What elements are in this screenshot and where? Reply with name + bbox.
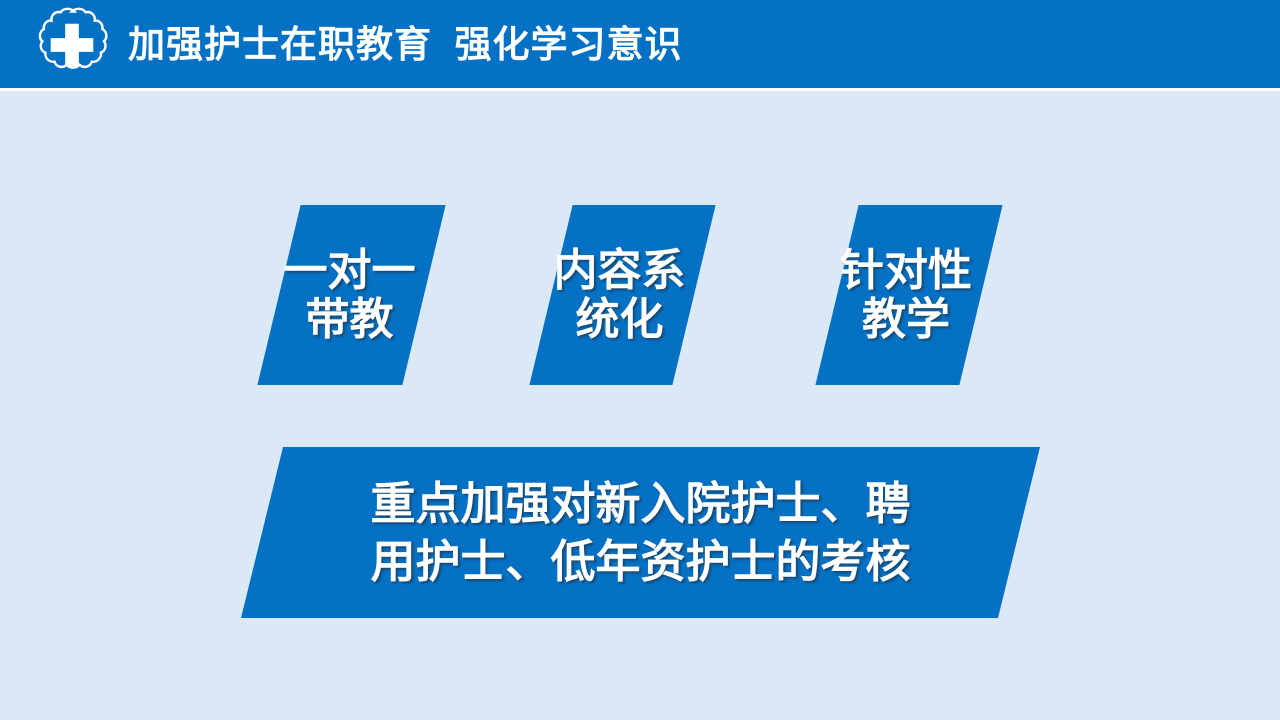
content-area: 一对一 带教 内容系 统化 针对性 教学 重点加强对新入院护士、聘 用护士、低年… [0, 0, 1280, 720]
slide-root: 加强护士在职教育 强化学习意识 一对一 带教 内容系 统化 针对性 教学 重点加… [0, 0, 1280, 720]
cross-glyph [51, 24, 94, 67]
header-bar: 加强护士在职教育 强化学习意识 [0, 0, 1280, 88]
medical-cross-quatrefoil-icon [34, 7, 110, 83]
feature-card-one-on-one-label: 一对一 带教 [277, 205, 422, 385]
feature-card-systematic-content-label: 内容系 统化 [548, 205, 691, 385]
feature-card-targeted-teaching-label: 针对性 教学 [834, 205, 978, 385]
header-divider [0, 88, 1280, 91]
summary-banner-label: 重点加强对新入院护士、聘 用护士、低年资护士的考核 [262, 447, 1019, 618]
page-title: 加强护士在职教育 强化学习意识 [128, 26, 683, 63]
summary-banner[interactable]: 重点加强对新入院护士、聘 用护士、低年资护士的考核 [241, 447, 1040, 618]
feature-card-targeted-teaching[interactable]: 针对性 教学 [815, 205, 1002, 385]
feature-card-systematic-content[interactable]: 内容系 统化 [529, 205, 715, 385]
feature-card-one-on-one[interactable]: 一对一 带教 [257, 205, 445, 385]
